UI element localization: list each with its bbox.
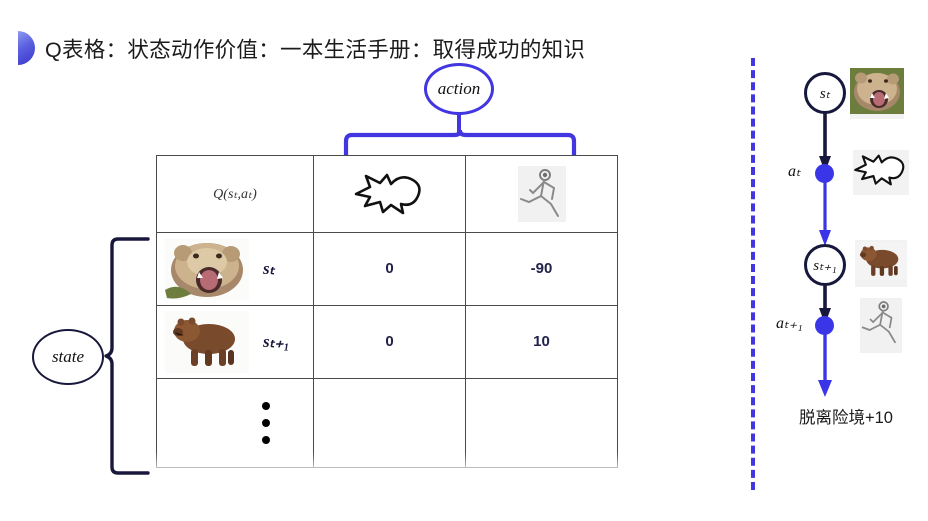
state-node-label: state (52, 347, 84, 367)
cell-number: -90 (531, 260, 553, 277)
table-continuation-row (157, 379, 618, 468)
column-header-running-action (466, 156, 618, 233)
action-node-label: action (438, 79, 481, 99)
continuation-cell (314, 379, 466, 468)
vertical-ellipsis-icon (219, 402, 313, 444)
walking-brown-bear-image (165, 311, 249, 373)
walking-brown-bear-image (855, 240, 907, 287)
row-state-label: sₜ₊₁ (263, 332, 290, 352)
burst-action-icon (853, 150, 909, 195)
cell-value: 0 (314, 306, 466, 379)
cell-value: 0 (314, 233, 466, 306)
chain-arrow-terminal (815, 331, 835, 399)
chain-node-label: sₜ (820, 84, 830, 103)
continuation-cell (157, 379, 314, 468)
chain-node-action-at (815, 164, 834, 183)
table-header-row: Q(sₜ,aₜ) (157, 156, 618, 233)
cell-number: 0 (385, 260, 393, 277)
roaring-bear-head-image (165, 238, 249, 300)
state-curly-brace-icon (104, 236, 150, 476)
chain-node-label-at1: aₜ₊₁ (776, 313, 803, 333)
table-row: sₜ 0 -90 (157, 233, 618, 306)
roaring-bear-head-image (850, 68, 904, 119)
chain-node-state-st1: sₜ₊₁ (804, 244, 846, 286)
row-state-cell: sₜ₊₁ (157, 306, 314, 379)
q-value-table: Q(sₜ,aₜ) (156, 155, 618, 468)
table-row: sₜ₊₁ 0 10 (157, 306, 618, 379)
q-table-diagram-panel: action Q(sₜ,aₜ) (0, 0, 740, 521)
row-state-label: sₜ (263, 259, 275, 279)
action-curly-brace-icon (342, 130, 578, 156)
burst-action-icon (314, 172, 465, 216)
q-formula-label: Q(sₜ,aₜ) (213, 187, 257, 202)
chain-node-state-st: sₜ (804, 72, 846, 114)
table-corner-header: Q(sₜ,aₜ) (157, 156, 314, 233)
cell-number: 10 (533, 333, 550, 350)
cell-value: -90 (466, 233, 618, 306)
running-stick-figure-icon (466, 166, 617, 222)
trajectory-chain-panel: sₜ aₜ sₜ₊₁ (760, 0, 928, 521)
running-stick-figure-icon (860, 298, 902, 353)
cell-value: 10 (466, 306, 618, 379)
row-state-cell: sₜ (157, 233, 314, 306)
action-node: action (424, 63, 494, 115)
chain-node-action-at1 (815, 316, 834, 335)
vertical-dashed-divider (751, 58, 755, 490)
cell-number: 0 (385, 333, 393, 350)
column-header-burst-action (314, 156, 466, 233)
continuation-cell (466, 379, 618, 468)
state-node: state (32, 329, 104, 385)
chain-arrow-at-to-st1 (815, 180, 835, 250)
reward-text: 脱离险境+10 (766, 404, 926, 428)
chain-node-label-at: aₜ (788, 161, 801, 181)
chain-node-label: sₜ₊₁ (813, 256, 836, 275)
